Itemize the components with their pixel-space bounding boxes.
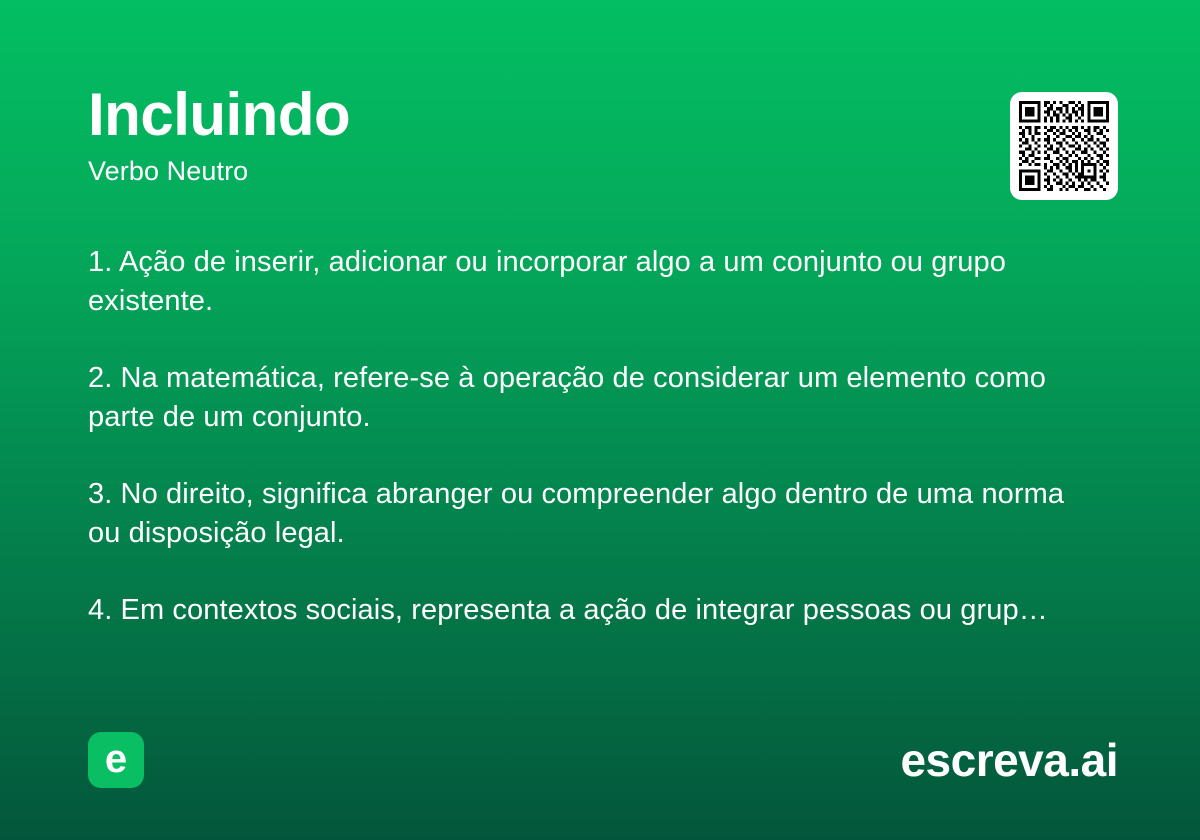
definition-list: 1. Ação de inserir, adicionar ou incorpo…: [88, 243, 1100, 630]
card-footer: e escreva.ai: [88, 732, 1118, 788]
escreva-logo-icon: e: [88, 732, 144, 788]
list-item: 2. Na matemática, refere-se à operação d…: [88, 359, 1100, 437]
card-header: Incluindo Verbo Neutro: [88, 82, 968, 188]
list-item: 4. Em contextos sociais, representa a aç…: [88, 591, 1100, 630]
word-class-label: Verbo Neutro: [88, 154, 968, 188]
qr-code-icon: [1019, 101, 1109, 191]
brand-wordmark: escreva.ai: [900, 737, 1118, 783]
list-item: 3. No direito, significa abranger ou com…: [88, 475, 1100, 553]
qr-code[interactable]: [1010, 92, 1118, 200]
dictionary-card: Incluindo Verbo Neutro: [0, 0, 1200, 840]
list-item: 1. Ação de inserir, adicionar ou incorpo…: [88, 243, 1100, 321]
page-title: Incluindo: [88, 82, 968, 148]
